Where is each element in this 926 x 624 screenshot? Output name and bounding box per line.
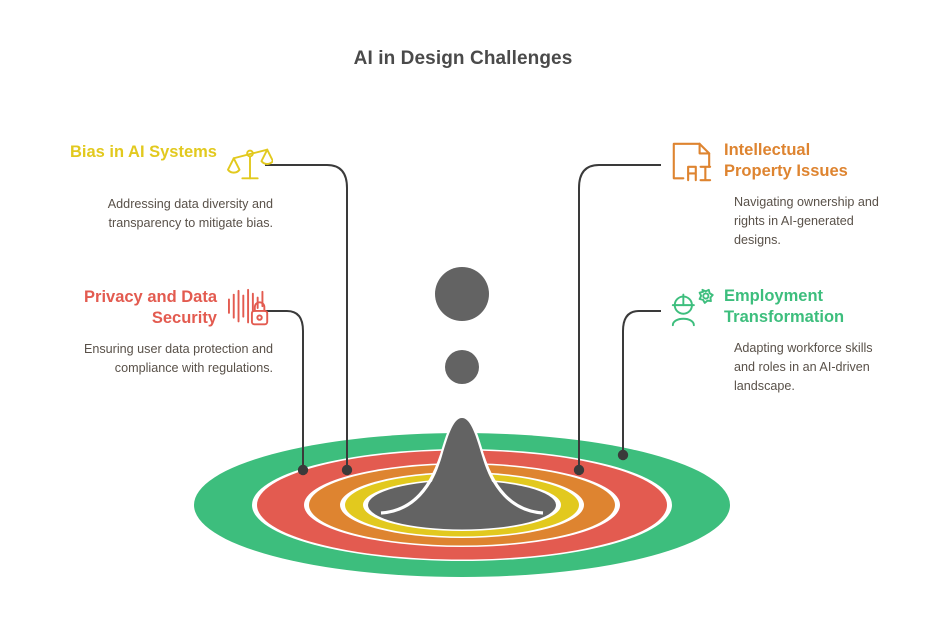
ring-core-fill: [368, 481, 556, 530]
worker-gear-icon: [668, 286, 714, 330]
challenge-ip[interactable]: Intellectual Property Issues Navigating …: [668, 140, 916, 250]
infographic-canvas: AI in Design Challenges: [0, 0, 926, 624]
ring-core: [363, 479, 561, 531]
challenge-bias[interactable]: Bias in AI Systems Addressing data diver…: [18, 142, 273, 233]
splash-column: [381, 416, 543, 516]
connector-employ: [623, 311, 661, 455]
connector-dot-bias: [342, 465, 352, 475]
challenge-bias-description: Addressing data diversity and transparen…: [68, 195, 273, 233]
page-title: AI in Design Challenges: [0, 48, 926, 70]
ring-orange: [304, 463, 620, 547]
connector-dots: [298, 450, 628, 475]
challenge-privacy-heading: Privacy and Data Security: [52, 287, 217, 329]
ring-green: [194, 433, 730, 577]
connector-dot-privacy: [298, 465, 308, 475]
challenge-bias-heading: Bias in AI Systems: [70, 142, 217, 163]
connector-bias: [265, 165, 347, 470]
connector-dot-ip: [574, 465, 584, 475]
ring-orange-fill: [309, 465, 615, 546]
challenge-ip-heading: Intellectual Property Issues: [724, 140, 876, 182]
ring-red: [252, 449, 672, 561]
document-ai-icon: [668, 140, 714, 184]
balance-scale-icon: [227, 142, 273, 186]
challenge-employment[interactable]: Employment Transformation Adapting workf…: [668, 286, 916, 396]
ring-yellow: [340, 472, 584, 538]
droplet-small: [445, 350, 479, 384]
ring-yellow-fill: [345, 474, 579, 537]
splash-body: [396, 418, 528, 516]
ring-red-fill: [257, 451, 667, 560]
challenge-privacy[interactable]: Privacy and Data Security Ensuring use: [18, 287, 273, 378]
challenge-ip-description: Navigating ownership and rights in AI-ge…: [734, 193, 894, 250]
droplet-large: [435, 267, 489, 321]
waveform-lock-icon: [227, 287, 273, 331]
challenge-privacy-description: Ensuring user data protection and compli…: [68, 340, 273, 378]
ripple-rings: [194, 433, 730, 577]
challenge-employment-heading: Employment Transformation: [724, 286, 876, 328]
splash-flare: [381, 416, 543, 513]
connector-dot-employ: [618, 450, 628, 460]
connector-ip: [579, 165, 661, 470]
connectors: [265, 165, 661, 470]
challenge-employment-description: Adapting workforce skills and roles in a…: [734, 339, 894, 396]
